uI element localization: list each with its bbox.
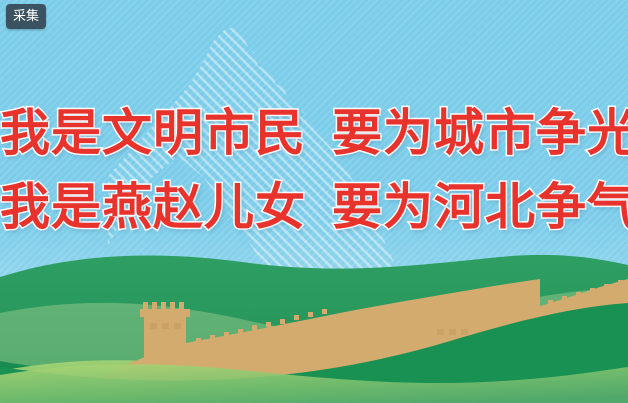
slogan-line1-right: 要为城市争光 — [332, 104, 628, 162]
slogan-line-1: 我是文明市民要为城市争光 — [0, 96, 628, 170]
slogan-line2-left: 我是燕赵儿女 — [0, 178, 306, 236]
slogan-block: 我是文明市民要为城市争光 我是燕赵儿女要为河北争气 — [0, 96, 628, 244]
slogan-line-2: 我是燕赵儿女要为河北争气 — [0, 170, 628, 244]
slogan-line2-right: 要为河北争气 — [332, 178, 628, 236]
green-hills-landscape — [0, 243, 628, 403]
collect-button[interactable]: 采集 — [6, 4, 46, 29]
banner-image: 我是文明市民要为城市争光 我是燕赵儿女要为河北争气 采集 — [0, 0, 628, 403]
slogan-line1-left: 我是文明市民 — [0, 104, 306, 162]
